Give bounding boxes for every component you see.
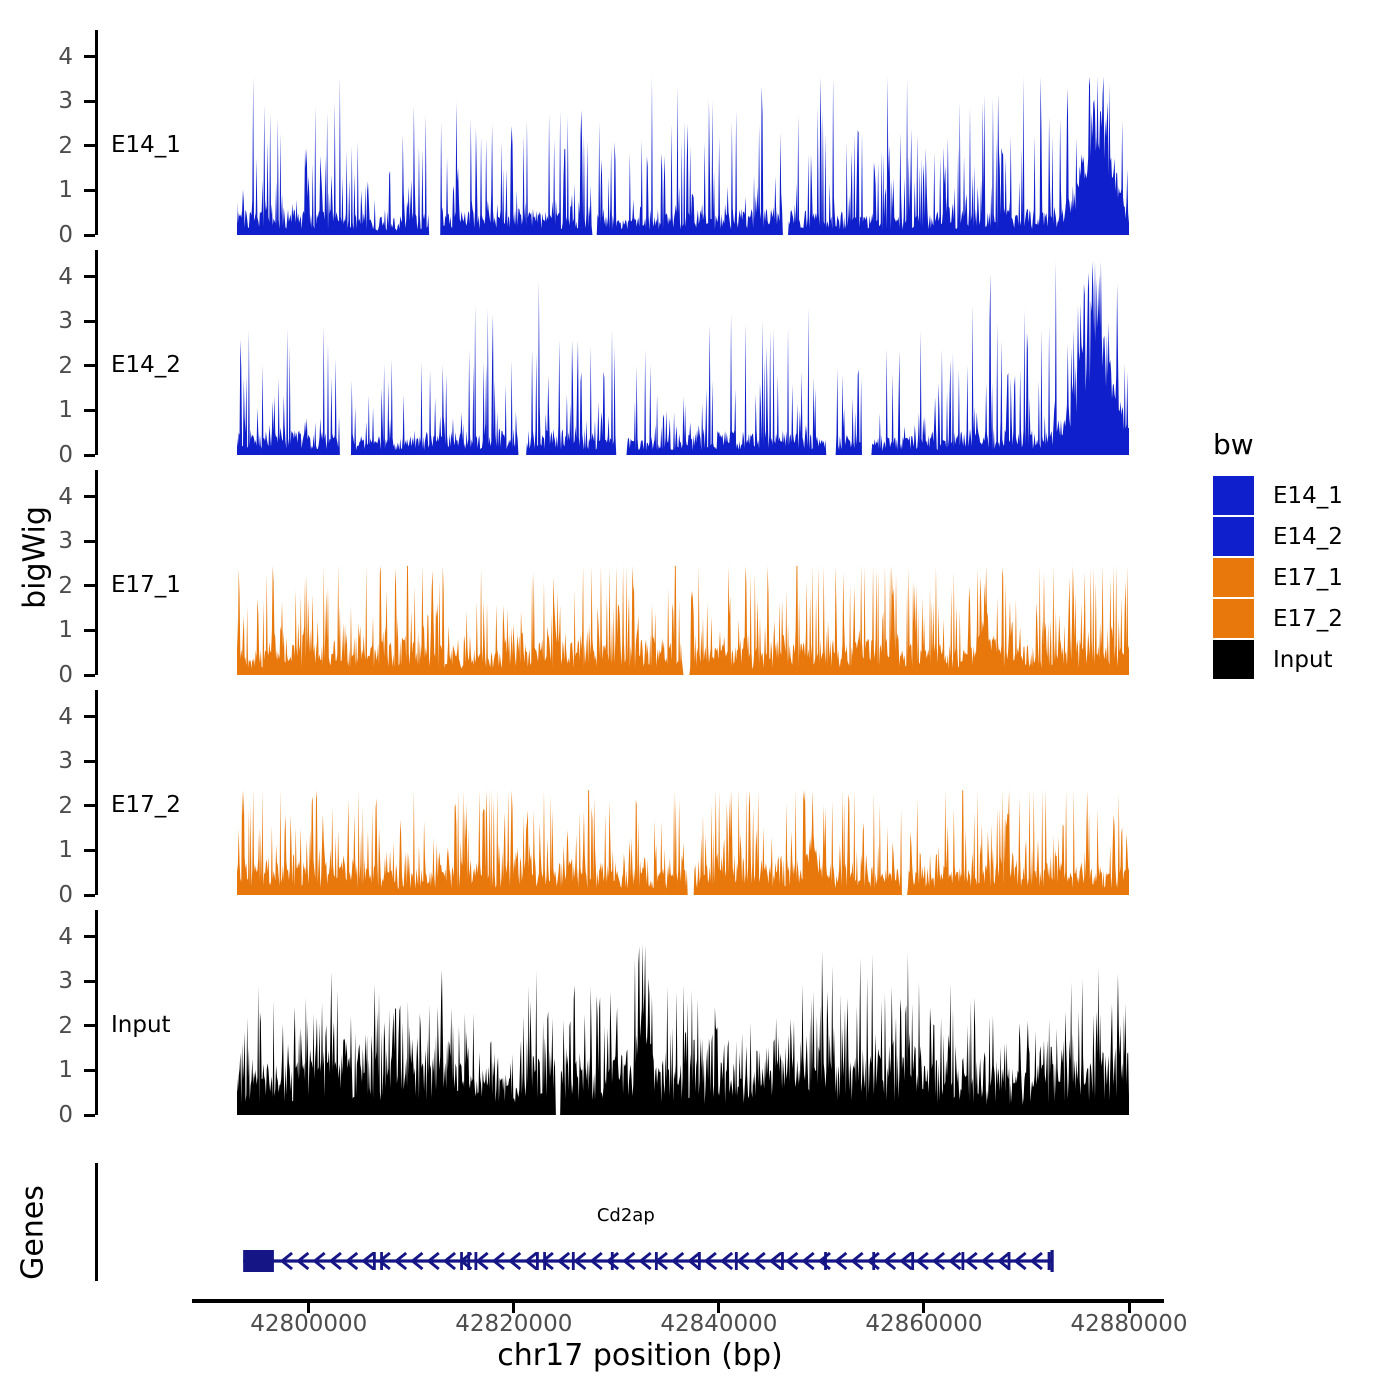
y-tick	[84, 715, 95, 718]
track-label-input: Input	[111, 1012, 171, 1038]
y-tick	[84, 409, 95, 412]
y-tick	[84, 760, 95, 763]
x-tick-label: 42880000	[1029, 1311, 1229, 1337]
y-tick-label: 0	[33, 1102, 73, 1128]
y-tick-label: 1	[33, 837, 73, 863]
genome-browser-figure: bigWig Genes 01234E14_101234E14_201234E1…	[0, 0, 1400, 1400]
legend-item-e14_2[interactable]: E14_2	[1213, 516, 1343, 557]
y-tick-label: 0	[33, 442, 73, 468]
y-tick-label: 3	[33, 308, 73, 334]
y-tick-label: 0	[33, 222, 73, 248]
y-tick-label: 2	[33, 793, 73, 819]
y-tick	[84, 935, 95, 938]
y-tick-label: 2	[33, 133, 73, 159]
y-tick	[84, 275, 95, 278]
genes-panel	[237, 1163, 1129, 1293]
signal-panel-input	[237, 910, 1129, 1115]
y-tick	[84, 1069, 95, 1072]
track-axis-line	[95, 470, 98, 675]
gene-exon-block	[243, 1250, 274, 1272]
y-tick	[84, 189, 95, 192]
y-tick	[84, 540, 95, 543]
signal-panel-e14_2	[237, 250, 1129, 455]
y-tick	[84, 55, 95, 58]
y-tick	[84, 674, 95, 677]
gene-exon-mark	[735, 1252, 738, 1270]
gene-label-cd2ap: Cd2ap	[597, 1205, 655, 1226]
track-label-e17_1: E17_1	[111, 572, 181, 598]
y-tick-label: 3	[33, 528, 73, 554]
gene-exon-mark	[474, 1252, 477, 1270]
gene-exon-mark	[781, 1252, 784, 1270]
y-tick-label: 4	[33, 924, 73, 950]
y-tick-label: 2	[33, 353, 73, 379]
y-tick-label: 1	[33, 1057, 73, 1083]
signal-panel-e17_2	[237, 690, 1129, 895]
y-tick-label: 4	[33, 44, 73, 70]
track-label-e14_1: E14_1	[111, 132, 181, 158]
legend-item-e14_1[interactable]: E14_1	[1213, 475, 1343, 516]
y-tick	[84, 364, 95, 367]
y-tick	[84, 454, 95, 457]
x-axis-line	[192, 1299, 1164, 1303]
y-tick-label: 4	[33, 264, 73, 290]
track-label-e17_2: E17_2	[111, 792, 181, 818]
y-tick-label: 0	[33, 882, 73, 908]
gene-exon-mark	[1048, 1252, 1051, 1270]
y-tick-label: 1	[33, 397, 73, 423]
legend-label: E14_1	[1273, 483, 1343, 509]
track-label-e14_2: E14_2	[111, 352, 181, 378]
legend-label: Input	[1273, 647, 1333, 673]
x-tick-label: 42800000	[209, 1311, 409, 1337]
y-tick	[84, 894, 95, 897]
y-tick	[84, 629, 95, 632]
legend-item-input[interactable]: Input	[1213, 639, 1343, 680]
x-axis-title: chr17 position (bp)	[60, 1338, 1220, 1373]
y-tick	[84, 980, 95, 983]
gene-feature-cd2ap[interactable]	[243, 1250, 1054, 1272]
signal-panel-e14_1	[237, 30, 1129, 235]
legend-item-e17_1[interactable]: E17_1	[1213, 557, 1343, 598]
y-tick	[84, 320, 95, 323]
y-tick	[84, 100, 95, 103]
y-tick	[84, 144, 95, 147]
y-tick-label: 1	[33, 617, 73, 643]
legend-title: bw	[1213, 428, 1343, 461]
y-tick-label: 4	[33, 484, 73, 510]
gene-exon-mark	[962, 1252, 965, 1270]
x-tick-label: 42860000	[824, 1311, 1024, 1337]
signal-panel-e17_1	[237, 470, 1129, 675]
genes-axis-line	[95, 1163, 98, 1281]
y-tick	[84, 849, 95, 852]
y-tick	[84, 495, 95, 498]
x-tick-label: 42820000	[414, 1311, 614, 1337]
track-axis-line	[95, 30, 98, 235]
x-tick-label: 42840000	[619, 1311, 819, 1337]
y-tick-label: 0	[33, 662, 73, 688]
y-tick-label: 2	[33, 1013, 73, 1039]
y-tick-label: 3	[33, 968, 73, 994]
legend-label: E17_2	[1273, 606, 1343, 632]
y-tick	[84, 584, 95, 587]
legend-color-swatch	[1213, 599, 1254, 638]
legend-label: E17_1	[1273, 565, 1343, 591]
legend-label: E14_2	[1273, 524, 1343, 550]
legend-color-swatch	[1213, 640, 1254, 679]
track-axis-line	[95, 250, 98, 455]
legend-color-swatch	[1213, 558, 1254, 597]
y-tick-label: 2	[33, 573, 73, 599]
y-tick	[84, 234, 95, 237]
y-tick	[84, 1024, 95, 1027]
legend-item-e17_2[interactable]: E17_2	[1213, 598, 1343, 639]
y-tick-label: 3	[33, 88, 73, 114]
gene-end-mark	[1051, 1250, 1054, 1272]
y-tick	[84, 1114, 95, 1117]
y-tick-label: 4	[33, 704, 73, 730]
y-tick-label: 1	[33, 177, 73, 203]
y-axis-title-genes: Genes	[16, 1158, 51, 1308]
gene-exon-mark	[611, 1252, 614, 1270]
track-axis-line	[95, 910, 98, 1115]
legend: bw E14_1E14_2E17_1E17_2Input	[1213, 428, 1343, 680]
y-tick-label: 3	[33, 748, 73, 774]
legend-color-swatch	[1213, 476, 1254, 515]
gene-exon-mark	[572, 1252, 575, 1270]
y-tick	[84, 804, 95, 807]
track-axis-line	[95, 690, 98, 895]
legend-color-swatch	[1213, 517, 1254, 556]
